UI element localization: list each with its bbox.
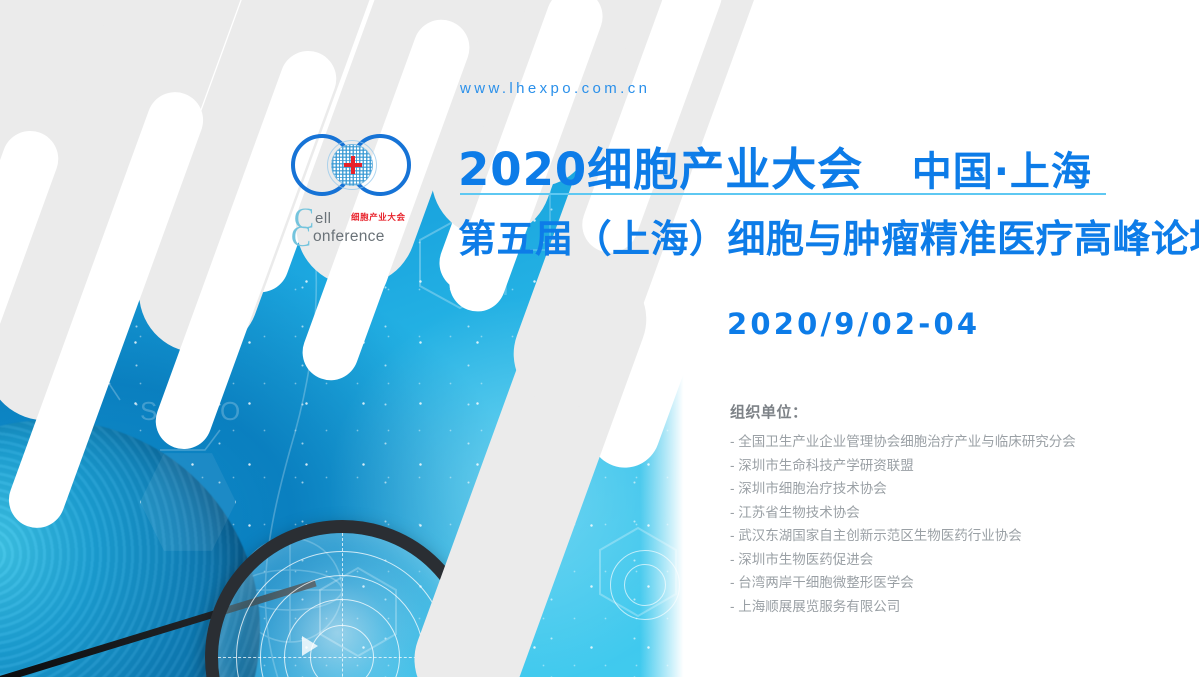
poster-title-main: 2020细胞产业大会 bbox=[458, 143, 863, 196]
organizer-item: - 全国卫生产业企业管理协会细胞治疗产业与临床研究分会 bbox=[730, 430, 1130, 454]
poster-subtitle: 第五届（上海）细胞与肿瘤精准医疗高峰论坛 bbox=[458, 208, 1199, 263]
logo-text-cell: ell bbox=[315, 210, 332, 227]
poster-title-location: 中国·上海 bbox=[912, 149, 1092, 195]
biotech-photo-panel: S O O O O H N bbox=[0, 0, 700, 677]
logo-text-chinese: 细胞产业大会 bbox=[351, 211, 406, 223]
logo-wordmark: C C ell onference 细胞产业大会 bbox=[291, 200, 416, 258]
logo-cell-circles-icon bbox=[291, 130, 416, 200]
title-divider bbox=[460, 193, 1106, 195]
organizers-label: 组织单位： bbox=[730, 401, 808, 422]
conference-poster: S O O O O H N bbox=[0, 0, 1199, 677]
svg-text:O: O bbox=[175, 396, 195, 426]
svg-text:S: S bbox=[140, 396, 157, 426]
organizers-list: - 全国卫生产业企业管理协会细胞治疗产业与临床研究分会 - 深圳市生命科技产学研… bbox=[730, 430, 1130, 618]
logo-medical-cross-icon bbox=[344, 163, 362, 167]
svg-text:O: O bbox=[220, 396, 240, 426]
svg-text:H: H bbox=[490, 271, 509, 301]
website-url[interactable]: www.lhexpo.com.cn bbox=[460, 80, 650, 97]
organizer-item: - 深圳市生命科技产学研资联盟 bbox=[730, 454, 1130, 478]
cell-conference-logo: C C ell onference 细胞产业大会 bbox=[291, 130, 416, 260]
organizer-item: - 武汉东湖国家自主创新示范区生物医药行业协会 bbox=[730, 524, 1130, 548]
event-date: 2020/9/02-04 bbox=[727, 307, 980, 341]
organizer-item: - 台湾两岸干细胞微整形医学会 bbox=[730, 571, 1130, 595]
logo-text-conference: onference bbox=[313, 228, 385, 246]
organizer-item: - 深圳市细胞治疗技术协会 bbox=[730, 477, 1130, 501]
organizer-item: - 江苏省生物技术协会 bbox=[730, 501, 1130, 525]
circle-decor-icon bbox=[624, 564, 666, 606]
title-row: 2020细胞产业大会 中国·上海 bbox=[458, 133, 1118, 187]
logo-letter-c-bottom: C bbox=[291, 222, 311, 252]
organizer-item: - 上海顺展展览服务有限公司 bbox=[730, 595, 1130, 619]
organizer-item: - 深圳市生物医药促进会 bbox=[730, 548, 1130, 572]
